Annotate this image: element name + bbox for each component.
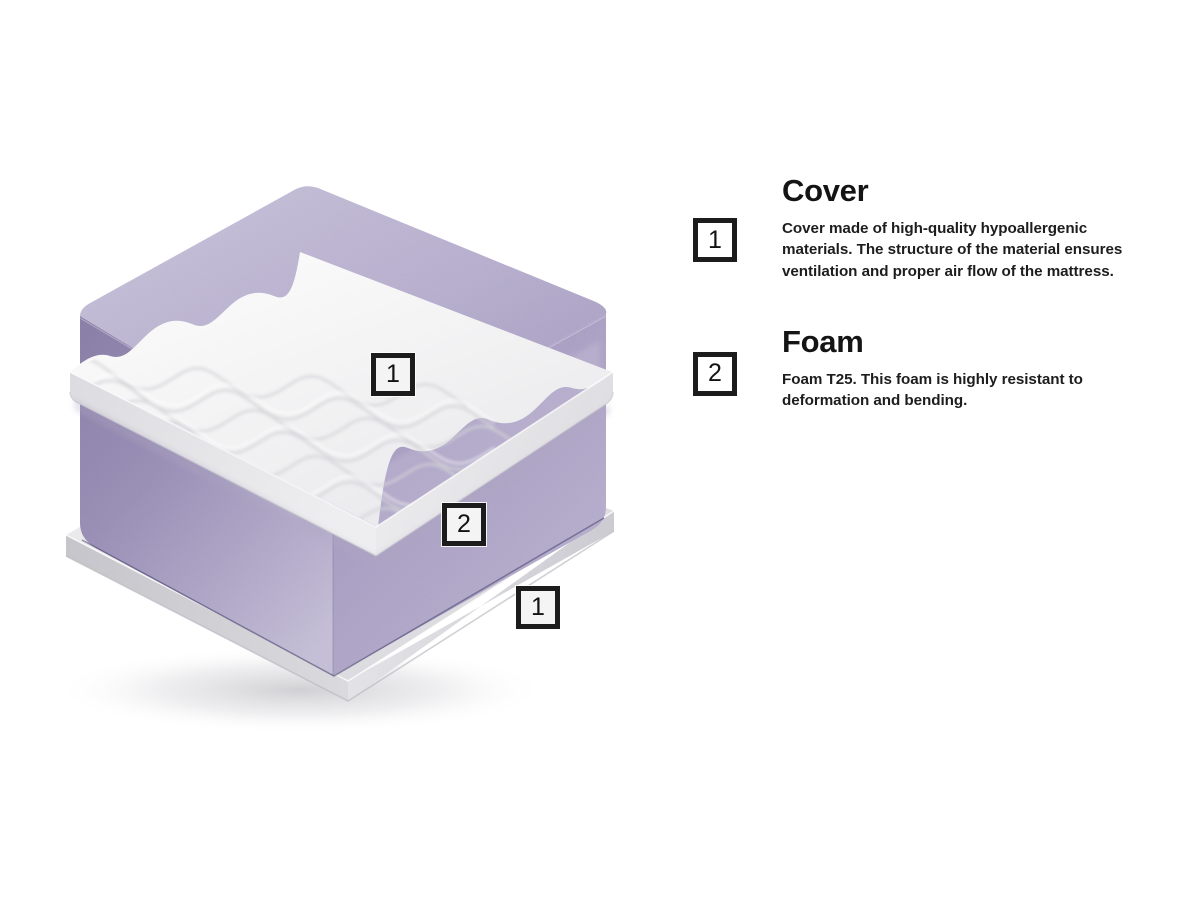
marker-foam-side[interactable]: 2 <box>442 503 486 546</box>
mattress-artwork <box>0 0 680 899</box>
legend-marker-1[interactable]: 1 <box>693 218 737 262</box>
legend-body-cover: Cover Cover made of high-quality hypoall… <box>782 175 1160 282</box>
legend-body-foam: Foam Foam T25. This foam is highly resis… <box>782 326 1160 412</box>
legend-description-foam: Foam T25. This foam is highly resistant … <box>782 369 1134 412</box>
marker-cover-base[interactable]: 1 <box>516 586 560 629</box>
diagram-canvas: 1 2 1 1 Cover Cover made of high-quality… <box>0 0 1200 899</box>
legend-panel: 1 Cover Cover made of high-quality hypoa… <box>690 175 1160 411</box>
legend-entry-foam: 2 Foam Foam T25. This foam is highly res… <box>690 326 1160 412</box>
legend-title-foam: Foam <box>782 326 1160 357</box>
legend-title-cover: Cover <box>782 175 1160 206</box>
marker-cover-top[interactable]: 1 <box>371 353 415 396</box>
legend-entry-cover: 1 Cover Cover made of high-quality hypoa… <box>690 175 1160 282</box>
mattress-illustration: 1 2 1 <box>0 0 680 899</box>
legend-description-cover: Cover made of high-quality hypoallergeni… <box>782 218 1134 282</box>
legend-marker-2[interactable]: 2 <box>693 352 737 396</box>
